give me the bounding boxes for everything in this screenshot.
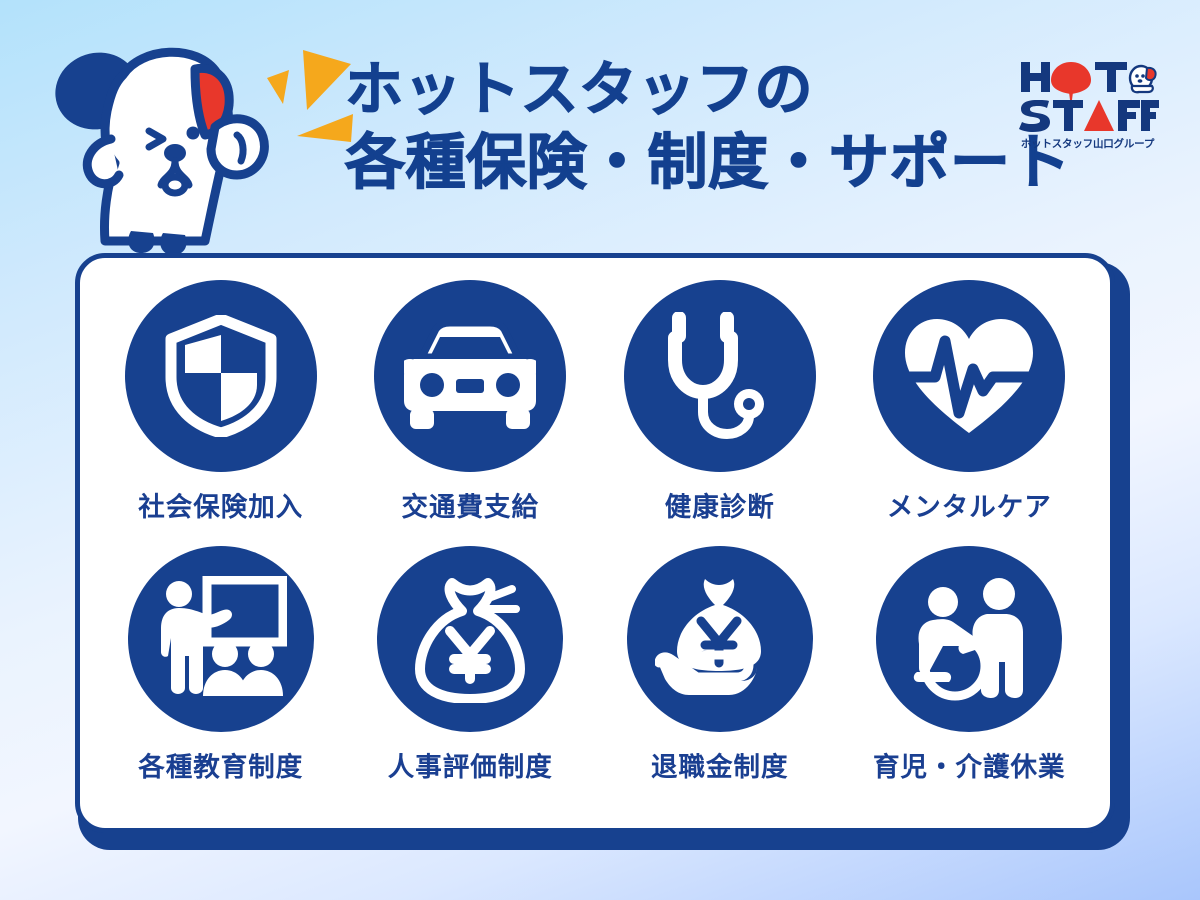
heart-pulse-icon (901, 315, 1037, 437)
stethoscope-icon (665, 312, 775, 440)
wheelchair-care-icon (903, 576, 1035, 702)
benefit-item-transport-allowance[interactable]: 交通費支給 (346, 280, 596, 546)
benefit-label: 退職金制度 (651, 745, 789, 784)
poster-canvas: ホットスタッフの 各種保険・制度・サポート (0, 0, 1200, 900)
benefit-item-training-programs[interactable]: 各種教育制度 (96, 546, 346, 812)
benefit-item-health-checkup[interactable]: 健康診断 (595, 280, 845, 546)
benefit-item-social-insurance[interactable]: 社会保険加入 (96, 280, 346, 546)
icon-disc (128, 546, 314, 732)
benefit-label: 社会保険加入 (138, 485, 303, 524)
icon-disc (627, 546, 813, 732)
header: ホットスタッフの 各種保険・制度・サポート (0, 0, 1200, 250)
logo-subtitle: ホットスタッフ山口グループ (1021, 138, 1154, 150)
benefit-label: 育児・介護休業 (873, 745, 1066, 784)
icon-disc (377, 546, 563, 732)
money-bag-yen-icon (408, 575, 532, 703)
benefit-item-retirement-allowance[interactable]: 退職金制度 (595, 546, 845, 812)
benefit-label: 各種教育制度 (138, 745, 303, 784)
icon-disc (876, 546, 1062, 732)
icon-disc (125, 280, 317, 472)
benefit-item-hr-evaluation[interactable]: 人事評価制度 (346, 546, 596, 812)
icon-disc (374, 280, 566, 472)
logo-wordmark (1015, 58, 1160, 132)
hot-staff-logo[interactable]: ホットスタッフ山口グループ (1015, 58, 1160, 150)
benefit-item-mental-care[interactable]: メンタルケア (845, 280, 1095, 546)
benefits-card: 社会保険加入 (75, 253, 1115, 833)
hand-money-bag-icon (655, 575, 785, 703)
benefit-label: 交通費支給 (402, 485, 540, 524)
benefit-item-childcare-nursing-leave[interactable]: 育児・介護休業 (845, 546, 1095, 812)
training-board-icon (155, 576, 287, 702)
icon-disc (624, 280, 816, 472)
benefit-label: 人事評価制度 (388, 745, 553, 784)
shield-icon (163, 315, 279, 437)
benefit-label: メンタルケア (887, 485, 1052, 524)
car-front-icon (404, 323, 536, 429)
benefit-label: 健康診断 (665, 485, 775, 524)
benefits-grid: 社会保険加入 (80, 258, 1110, 828)
icon-disc (873, 280, 1065, 472)
